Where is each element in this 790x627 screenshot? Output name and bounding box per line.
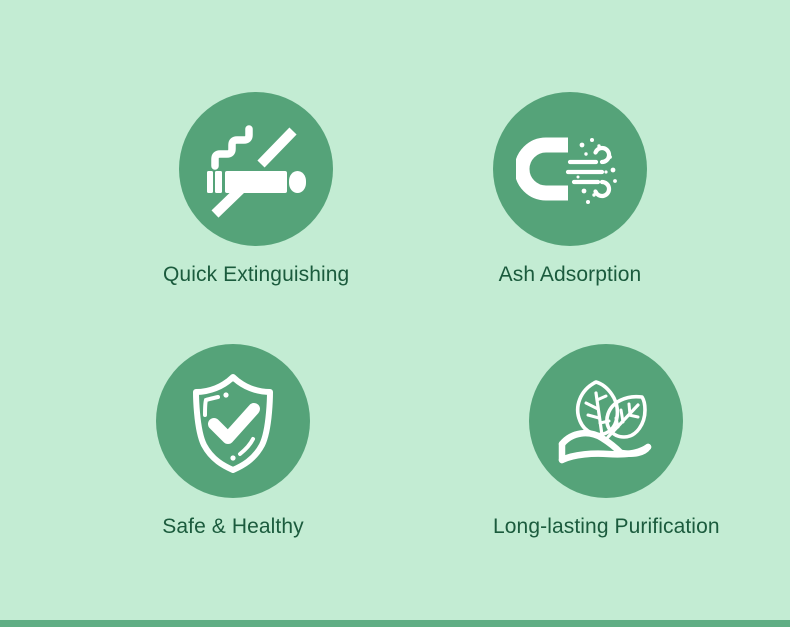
feature-label: Quick Extinguishing — [163, 264, 349, 285]
bottom-accent-bar — [0, 620, 790, 627]
magnet-wind-icon — [516, 115, 624, 223]
feature-icon-circle — [156, 344, 310, 498]
no-smoking-cigarette-icon — [201, 114, 311, 224]
shield-check-icon — [179, 367, 287, 475]
feature-quick-extinguishing: Quick Extinguishing — [163, 92, 349, 285]
feature-icon-circle — [179, 92, 333, 246]
feature-icon-circle — [529, 344, 683, 498]
feature-label: Safe & Healthy — [162, 516, 303, 537]
feature-label: Ash Adsorption — [499, 264, 642, 285]
feature-safe-healthy: Safe & Healthy — [156, 344, 310, 537]
feature-icon-circle — [493, 92, 647, 246]
feature-long-lasting-purification: Long-lasting Purification — [493, 344, 720, 537]
feature-highlights-banner: Quick Extinguishing — [0, 0, 790, 627]
feature-ash-adsorption: Ash Adsorption — [493, 92, 647, 285]
feature-label: Long-lasting Purification — [493, 516, 720, 537]
hand-leaves-icon — [550, 365, 662, 477]
